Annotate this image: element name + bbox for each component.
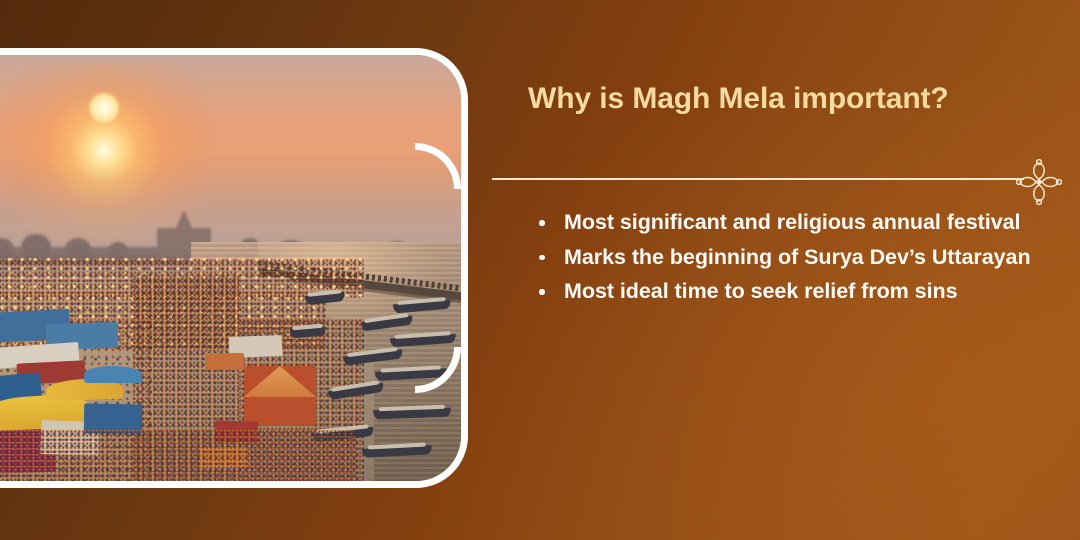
slide-root: Why is Magh Mela important? xyxy=(0,0,1080,540)
four-petal-knot-ornament-icon xyxy=(1016,158,1062,206)
pavilion-roof xyxy=(244,366,316,397)
bullet-list: Most significant and religious annual fe… xyxy=(530,206,1042,310)
content-panel: Why is Magh Mela important? xyxy=(500,0,1080,540)
list-item: Marks the beginning of Surya Dev’s Uttar… xyxy=(530,241,1042,274)
canopy-blue xyxy=(84,366,142,383)
divider-line xyxy=(492,178,1024,180)
crowd-foreground xyxy=(0,430,355,481)
list-item: Most significant and religious annual fe… xyxy=(530,206,1042,239)
sun-icon xyxy=(89,93,119,123)
page-title: Why is Magh Mela important? xyxy=(528,82,949,116)
festival-photo xyxy=(0,55,461,481)
pavilion-orange xyxy=(244,366,316,426)
tent-orange xyxy=(205,353,244,370)
list-item: Most ideal time to seek relief from sins xyxy=(530,275,1042,308)
divider xyxy=(492,162,1062,204)
photo-card xyxy=(0,48,468,488)
